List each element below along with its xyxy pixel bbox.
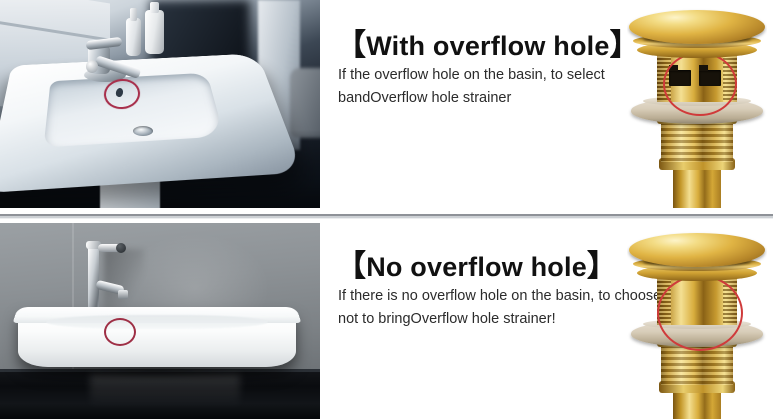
- panel-no-overflow: 【No overflow hole】 If there is no overfl…: [0, 223, 773, 419]
- soap-bottle-small-neck: [130, 8, 137, 21]
- divider-line-light: [0, 218, 773, 219]
- drain-tailpiece: [673, 391, 721, 419]
- panel-divider: [0, 208, 773, 223]
- body-line-1: If the overflow hole on the basin, to se…: [338, 64, 605, 87]
- guide-canvas: 【With overflow hole】 If the overflow hol…: [0, 0, 773, 419]
- faucet-aerator: [118, 290, 128, 299]
- no-overflow-hole-highlight-circle: [104, 318, 136, 346]
- panel-with-overflow: 【With overflow hole】 If the overflow hol…: [0, 0, 773, 208]
- soap-bottle-large-neck: [150, 2, 159, 13]
- gold-drain-with-overflow: [627, 0, 767, 208]
- overflow-slots-highlight-circle: [663, 52, 737, 116]
- soap-bottle-large: [145, 10, 164, 54]
- panel-headline: 【No overflow hole】: [336, 241, 617, 285]
- drain-dome-cap: [629, 10, 765, 44]
- gold-drain-without-overflow: [627, 223, 767, 419]
- no-overflow-text-panel: 【No overflow hole】 If there is no overfl…: [324, 223, 773, 419]
- faucet-knob: [86, 60, 98, 73]
- basin-drain: [133, 126, 153, 136]
- wall-hung-basin-photo: [0, 0, 322, 208]
- drain-tailpiece: [673, 168, 721, 208]
- bracket-close-icon: 】: [587, 249, 617, 284]
- headline-text: No overflow hole: [366, 252, 587, 282]
- panel-body-text: If the overflow hole on the basin, to se…: [338, 64, 605, 110]
- soap-bottle-small: [126, 18, 141, 56]
- vessel-sink-inner-basin: [46, 315, 268, 329]
- body-line-1: If there is no overflow hole on the basi…: [338, 285, 661, 308]
- panel-headline: 【With overflow hole】: [336, 20, 640, 64]
- solid-body-highlight-circle: [657, 275, 743, 351]
- drain-dome-cap: [629, 233, 765, 267]
- toilet-shape: [290, 68, 322, 138]
- faucet-handle-knob: [116, 243, 126, 253]
- body-line-2: not to bringOverflow hole strainer!: [338, 308, 661, 331]
- bracket-open-icon: 【: [336, 249, 366, 284]
- bracket-open-icon: 【: [336, 28, 366, 63]
- vessel-sink-photo: [0, 223, 322, 419]
- with-overflow-text-panel: 【With overflow hole】 If the overflow hol…: [324, 0, 773, 208]
- headline-text: With overflow hole: [366, 31, 609, 61]
- panel-body-text: If there is no overflow hole on the basi…: [338, 285, 661, 331]
- body-line-2: bandOverflow hole strainer: [338, 87, 605, 110]
